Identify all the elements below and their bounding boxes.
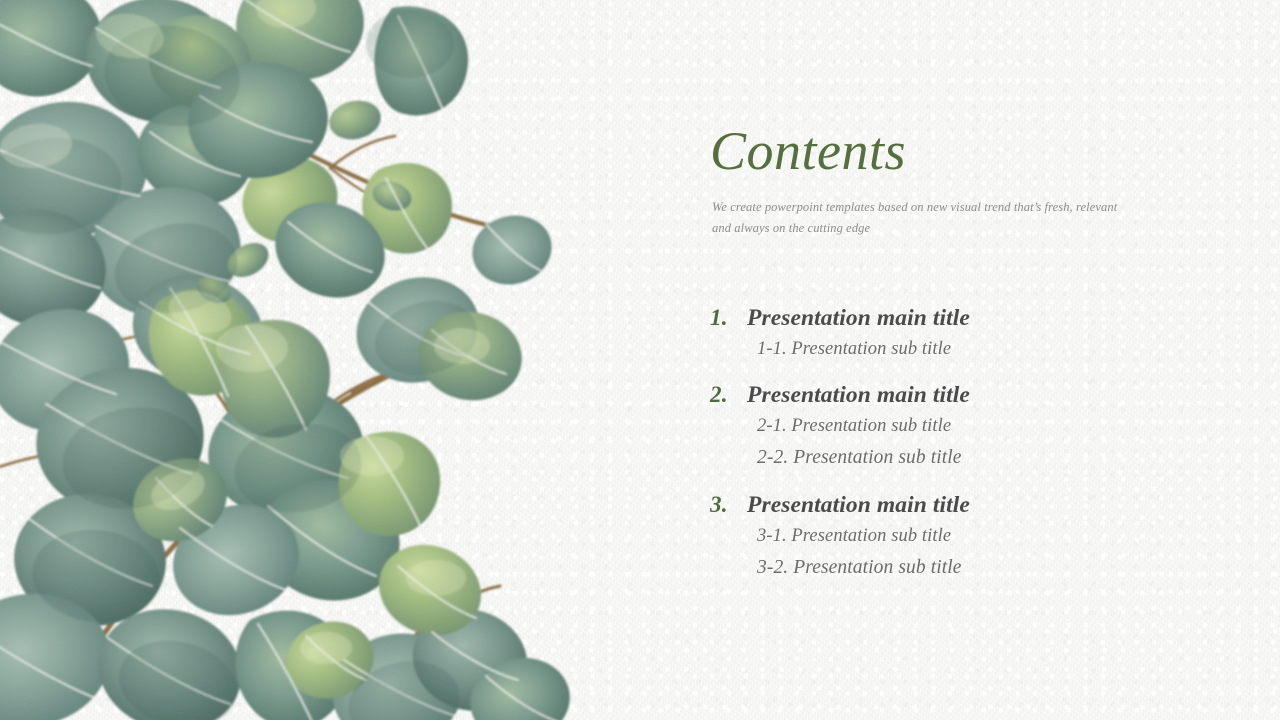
contents-item-2-title: Presentation main title — [747, 382, 970, 409]
contents-item-3-sub-2[interactable]: 3-2. Presentation sub title — [757, 552, 1210, 585]
contents-item-3-sub-1[interactable]: 3-1. Presentation sub title — [757, 521, 1210, 552]
contents-item-1[interactable]: 1. Presentation main title 1-1. Presenta… — [710, 305, 1210, 365]
contents-item-1-title: Presentation main title — [747, 305, 970, 332]
page-title: Contents — [710, 124, 906, 178]
presentation-slide: Contents We create powerpoint templates … — [0, 0, 1280, 720]
contents-item-2-main[interactable]: 2. Presentation main title — [710, 382, 1210, 409]
slide-subtitle: We create powerpoint templates based on … — [712, 197, 1137, 238]
slide-text-column: Contents We create powerpoint templates … — [710, 0, 1230, 720]
contents-list: 1. Presentation main title 1-1. Presenta… — [710, 305, 1210, 585]
contents-item-3-main[interactable]: 3. Presentation main title — [710, 492, 1210, 519]
contents-item-1-main[interactable]: 1. Presentation main title — [710, 305, 1210, 332]
subtitle-line-1: We create powerpoint templates based on … — [712, 200, 1073, 214]
contents-item-3-title: Presentation main title — [747, 492, 970, 519]
contents-item-3[interactable]: 3. Presentation main title 3-1. Presenta… — [710, 492, 1210, 585]
contents-item-2-sub-2[interactable]: 2-2. Presentation sub title — [757, 442, 1210, 475]
contents-item-1-number: 1. — [710, 305, 747, 331]
contents-item-2-sub-1[interactable]: 2-1. Presentation sub title — [757, 411, 1210, 442]
contents-item-3-number: 3. — [710, 492, 747, 518]
contents-item-2-number: 2. — [710, 382, 747, 408]
eucalyptus-illustration — [0, 0, 600, 720]
contents-item-2[interactable]: 2. Presentation main title 2-1. Presenta… — [710, 382, 1210, 475]
contents-item-1-sub-1[interactable]: 1-1. Presentation sub title — [757, 334, 1210, 365]
